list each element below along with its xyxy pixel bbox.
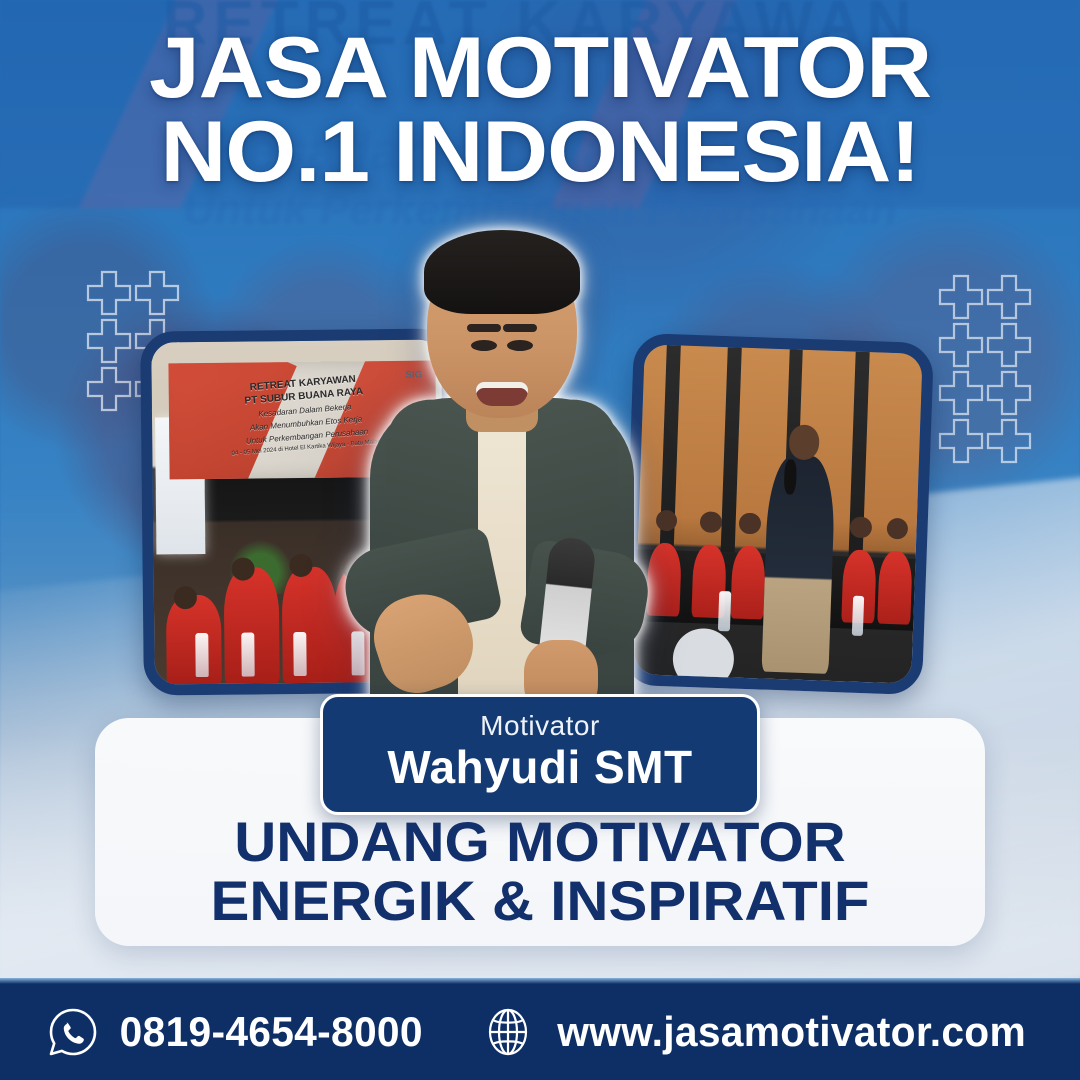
foreground-head [672,627,735,690]
audience-figure [281,566,337,683]
motivator-cutout-photo [352,222,652,742]
water-bottle [852,596,864,636]
speaker-brow-right [503,324,537,332]
speaker-eye-left [471,340,497,351]
headline-line-2: NO.1 INDONESIA! [0,110,1080,194]
badge-role-label: Motivator [343,711,737,740]
speaker-brow-left [467,324,501,332]
water-bottle [241,632,255,677]
audience-figure [877,551,913,625]
water-bottle [718,591,730,631]
status-badge: Motivator Wahyudi SMT [320,694,760,815]
contact-footer-bar: 0819-4654-8000 www.jasamotivator.com [0,984,1080,1080]
promo-poster: RETREAT KARYAWAN Kesadaran Dalam Bekerja… [0,0,1080,1080]
tagline-line-2: ENERGIK & INSPIRATIF [0,871,1080,930]
cross-pattern-right [930,272,1050,472]
website-url: www.jasamotivator.com [557,1008,1026,1056]
globe-icon [482,1006,534,1058]
photo-right-image [633,344,922,684]
microphone-icon [784,459,797,494]
page-title: JASA MOTIVATOR NO.1 INDONESIA! [0,26,1080,195]
tagline-line-1: UNDANG MOTIVATOR [0,812,1080,871]
speaker-hair [424,230,580,314]
badge-name-label: Wahyudi SMT [343,742,737,794]
whatsapp-icon [47,1006,99,1058]
speaker-eye-right [507,340,533,351]
photo-card-right [622,333,934,695]
speaker-figure-small [761,454,835,674]
water-bottle [195,633,209,678]
phone-number: 0819-4654-8000 [120,1008,423,1056]
water-bottle [293,632,307,677]
audience-figure [165,595,221,684]
audience-figure [730,545,766,619]
phone-contact[interactable]: 0819-4654-8000 [47,1006,427,1058]
headline-line-1: JASA MOTIVATOR [0,26,1080,110]
speaker-mouth [476,382,528,406]
tagline: UNDANG MOTIVATOR ENERGIK & INSPIRATIF [0,812,1080,931]
website-contact[interactable]: www.jasamotivator.com [482,1006,1033,1058]
